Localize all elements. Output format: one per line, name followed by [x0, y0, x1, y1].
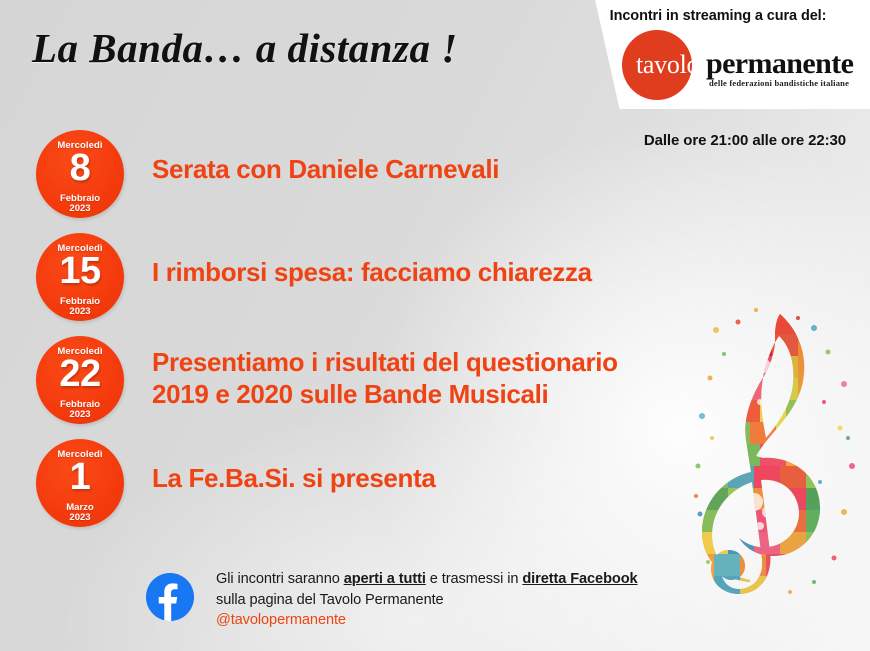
- event-title-line: 2019 e 2020 sulle Bande Musicali: [152, 379, 720, 411]
- organizer-caption: Incontri in streaming a cura del:: [576, 8, 860, 24]
- footer-emphasis-open: aperti a tutti: [344, 571, 426, 587]
- event-title-line: La Fe.Ba.Si. si presenta: [152, 463, 720, 495]
- list-item: Mercoledì 22 Febbraio 2023 Presentiamo i…: [0, 334, 720, 437]
- list-item: Mercoledì 15 Febbraio 2023 I rimborsi sp…: [0, 231, 720, 334]
- logo-word-permanente: permanente: [706, 49, 853, 79]
- badge-year: 2023: [36, 306, 124, 317]
- event-title: Presentiamo i risultati del questionario…: [152, 347, 720, 410]
- footer: Gli incontri saranno aperti a tutti e tr…: [146, 569, 746, 639]
- event-title: La Fe.Ba.Si. si presenta: [152, 463, 720, 495]
- badge-day: 1: [36, 456, 124, 500]
- footer-line-1: Gli incontri saranno aperti a tutti e tr…: [216, 569, 746, 590]
- footer-line1-part-a: Gli incontri saranno: [216, 571, 344, 587]
- date-badge: Mercoledì 15 Febbraio 2023: [36, 233, 124, 321]
- event-title-line: Serata con Daniele Carnevali: [152, 154, 720, 186]
- badge-day: 22: [36, 353, 124, 397]
- footer-emphasis-facebook: diretta Facebook: [522, 571, 637, 587]
- badge-year: 2023: [36, 512, 124, 523]
- event-title: Serata con Daniele Carnevali: [152, 154, 720, 186]
- date-badge: Mercoledì 1 Marzo 2023: [36, 439, 124, 527]
- date-badge: Mercoledì 22 Febbraio 2023: [36, 336, 124, 424]
- badge-day: 8: [36, 147, 124, 191]
- badge-day: 15: [36, 250, 124, 294]
- event-title-line: I rimborsi spesa: facciamo chiarezza: [152, 257, 720, 289]
- logo-word-tavolo: tavolo: [636, 52, 699, 78]
- facebook-handle[interactable]: @tavolopermanente: [216, 610, 746, 631]
- footer-line1-part-c: e trasmessi in: [426, 571, 523, 587]
- schedule-list: Mercoledì 8 Febbraio 2023 Serata con Dan…: [0, 128, 720, 540]
- poster-canvas: La Banda… a distanza ! Incontri in strea…: [0, 0, 870, 651]
- tavolo-permanente-logo: tavolo permanente delle federazioni band…: [612, 28, 862, 102]
- event-title: I rimborsi spesa: facciamo chiarezza: [152, 257, 720, 289]
- event-title-line: Presentiamo i risultati del questionario: [152, 347, 720, 379]
- logo-subtitle: delle federazioni bandistiche italiane: [709, 78, 849, 88]
- badge-year: 2023: [36, 203, 124, 214]
- facebook-icon[interactable]: [146, 573, 194, 621]
- page-title: La Banda… a distanza !: [32, 24, 458, 72]
- list-item: Mercoledì 8 Febbraio 2023 Serata con Dan…: [0, 128, 720, 231]
- organizer-logo-panel: Incontri in streaming a cura del: tavolo…: [576, 0, 870, 109]
- list-item: Mercoledì 1 Marzo 2023 La Fe.Ba.Si. si p…: [0, 437, 720, 540]
- footer-line-2: sulla pagina del Tavolo Permanente: [216, 590, 746, 611]
- footer-text: Gli incontri saranno aperti a tutti e tr…: [216, 569, 746, 631]
- badge-year: 2023: [36, 409, 124, 420]
- date-badge: Mercoledì 8 Febbraio 2023: [36, 130, 124, 218]
